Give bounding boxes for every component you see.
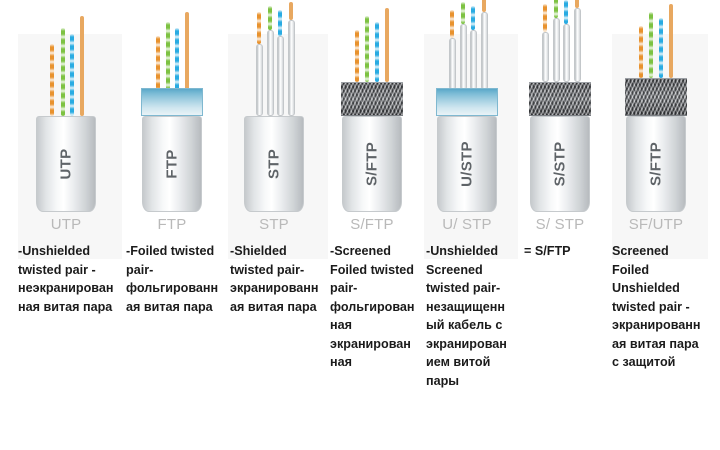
cable-illustration-stp: STP	[224, 0, 324, 212]
jacket-label: U/STP	[459, 141, 476, 187]
wire-bundle	[530, 0, 590, 82]
cable-jacket-ftp: FTP	[142, 116, 202, 212]
braid-shield	[625, 78, 687, 116]
cable-jacket-stp: STP	[244, 116, 304, 212]
pair-shield-sleeve	[256, 44, 263, 116]
pair-shield-sleeve	[267, 30, 274, 116]
cable-jacket-utp: UTP	[36, 116, 96, 212]
column-description-s-stp: = S/FTP	[514, 238, 606, 261]
cable-jacket-u-stp: U/STP	[437, 116, 497, 212]
cable-column-s-ftp: S/FTP S/FTP -Screened Foiled twisted pai…	[324, 0, 420, 450]
column-description-stp: -Shielded twisted pair-экранированная ви…	[224, 238, 324, 316]
jacket-label: UTP	[58, 149, 75, 180]
wire-blue	[278, 10, 282, 36]
wire-orange	[639, 26, 643, 78]
wire-orange	[355, 30, 359, 82]
foil-shield	[436, 88, 498, 116]
wire-brown	[185, 12, 189, 90]
pair-shield-sleeve	[288, 20, 295, 116]
wire-brown	[80, 16, 84, 116]
pair-shield-sleeve	[460, 24, 467, 90]
wire-blue	[564, 0, 568, 24]
column-header-s-ftp: S/FTP	[324, 212, 420, 238]
pair-shield-sleeve	[553, 18, 560, 82]
wire-brown	[575, 0, 579, 8]
jacket-label: S/FTP	[648, 142, 665, 186]
column-header-ftp: FTP	[120, 212, 224, 238]
cable-illustration-sf-utp: S/FTP	[606, 0, 706, 212]
wire-bundle	[36, 12, 96, 116]
column-header-sf-utp: SF/UTP	[606, 212, 706, 238]
pair-shield-sleeve	[277, 36, 284, 116]
wire-green	[461, 2, 465, 24]
wire-green	[365, 16, 369, 82]
pair-shield-sleeve	[449, 38, 456, 90]
column-header-u-stp: U/ STP	[420, 212, 514, 238]
pair-shield-sleeve	[470, 30, 477, 90]
pair-shield-sleeve	[542, 32, 549, 82]
wire-blue	[471, 6, 475, 30]
cable-jacket-sf-utp: S/FTP	[626, 116, 686, 212]
jacket-label: FTP	[164, 149, 181, 178]
foil-shield	[141, 88, 203, 116]
cable-jacket-s-stp: S/STP	[530, 116, 590, 212]
wire-orange	[543, 4, 547, 32]
wire-blue	[70, 34, 74, 116]
wire-orange	[257, 12, 261, 44]
wire-green	[649, 12, 653, 78]
cable-illustration-ftp: FTP	[120, 0, 224, 212]
column-header-utp: UTP	[12, 212, 120, 238]
figure-root: UTP UTP -Unshielded twisted pair - неэкр…	[0, 0, 720, 450]
cable-column-utp: UTP UTP -Unshielded twisted pair - неэкр…	[12, 0, 120, 450]
column-description-utp: -Unshielded twisted pair - неэкранирован…	[12, 238, 120, 316]
column-header-stp: STP	[224, 212, 324, 238]
braid-shield	[529, 82, 591, 116]
cable-column-s-stp: S/STP S/ STP = S/FTP	[514, 0, 606, 450]
pair-shield-sleeve	[563, 24, 570, 82]
braid-shield	[341, 82, 403, 116]
cable-column-ftp: FTP FTP -Foiled twisted pair-фольгирован…	[120, 0, 224, 450]
wire-blue	[175, 28, 179, 90]
jacket-label: S/FTP	[364, 142, 381, 186]
wire-orange	[50, 44, 54, 116]
column-header-s-stp: S/ STP	[514, 212, 606, 238]
column-description-u-stp: -Unshielded Screened twisted pair-незащи…	[420, 238, 514, 390]
cable-illustration-s-ftp: S/FTP	[324, 0, 420, 212]
wire-bundle	[142, 10, 202, 90]
wire-blue	[375, 22, 379, 82]
pair-shield-sleeve	[574, 8, 581, 82]
cable-column-stp: STP STP -Shielded twisted pair-экраниров…	[224, 0, 324, 450]
wire-bundle	[626, 2, 686, 78]
column-description-ftp: -Foiled twisted pair-фольгированная вита…	[120, 238, 224, 316]
wire-bundle	[437, 0, 497, 90]
cable-column-u-stp: U/STP U/ STP -Unshielded Screened twiste…	[420, 0, 514, 450]
wire-green	[61, 28, 65, 116]
wire-brown	[289, 2, 293, 20]
cable-jacket-s-ftp: S/FTP	[342, 116, 402, 212]
cable-illustration-utp: UTP	[12, 0, 120, 212]
wire-bundle	[244, 4, 304, 116]
wire-orange	[156, 36, 160, 90]
wire-brown	[669, 4, 673, 78]
wire-brown	[385, 8, 389, 82]
wire-brown	[482, 0, 486, 12]
wire-blue	[659, 18, 663, 78]
cable-illustration-u-stp: U/STP	[420, 0, 514, 212]
cable-type-columns: UTP UTP -Unshielded twisted pair - неэкр…	[0, 0, 720, 450]
column-description-s-ftp: -Screened Foiled twisted pair-фольгирова…	[324, 238, 420, 372]
wire-orange	[450, 10, 454, 38]
wire-green	[554, 0, 558, 18]
wire-bundle	[342, 6, 402, 82]
jacket-label: S/STP	[552, 142, 569, 187]
cable-column-sf-utp: S/FTP SF/UTP Screened Foiled Unshielded …	[606, 0, 706, 450]
jacket-label: STP	[266, 149, 283, 179]
column-description-sf-utp: Screened Foiled Unshielded twisted pair …	[606, 238, 706, 372]
wire-green	[166, 22, 170, 90]
pair-shield-sleeve	[481, 12, 488, 90]
cable-illustration-s-stp: S/STP	[514, 0, 606, 212]
wire-green	[268, 6, 272, 30]
